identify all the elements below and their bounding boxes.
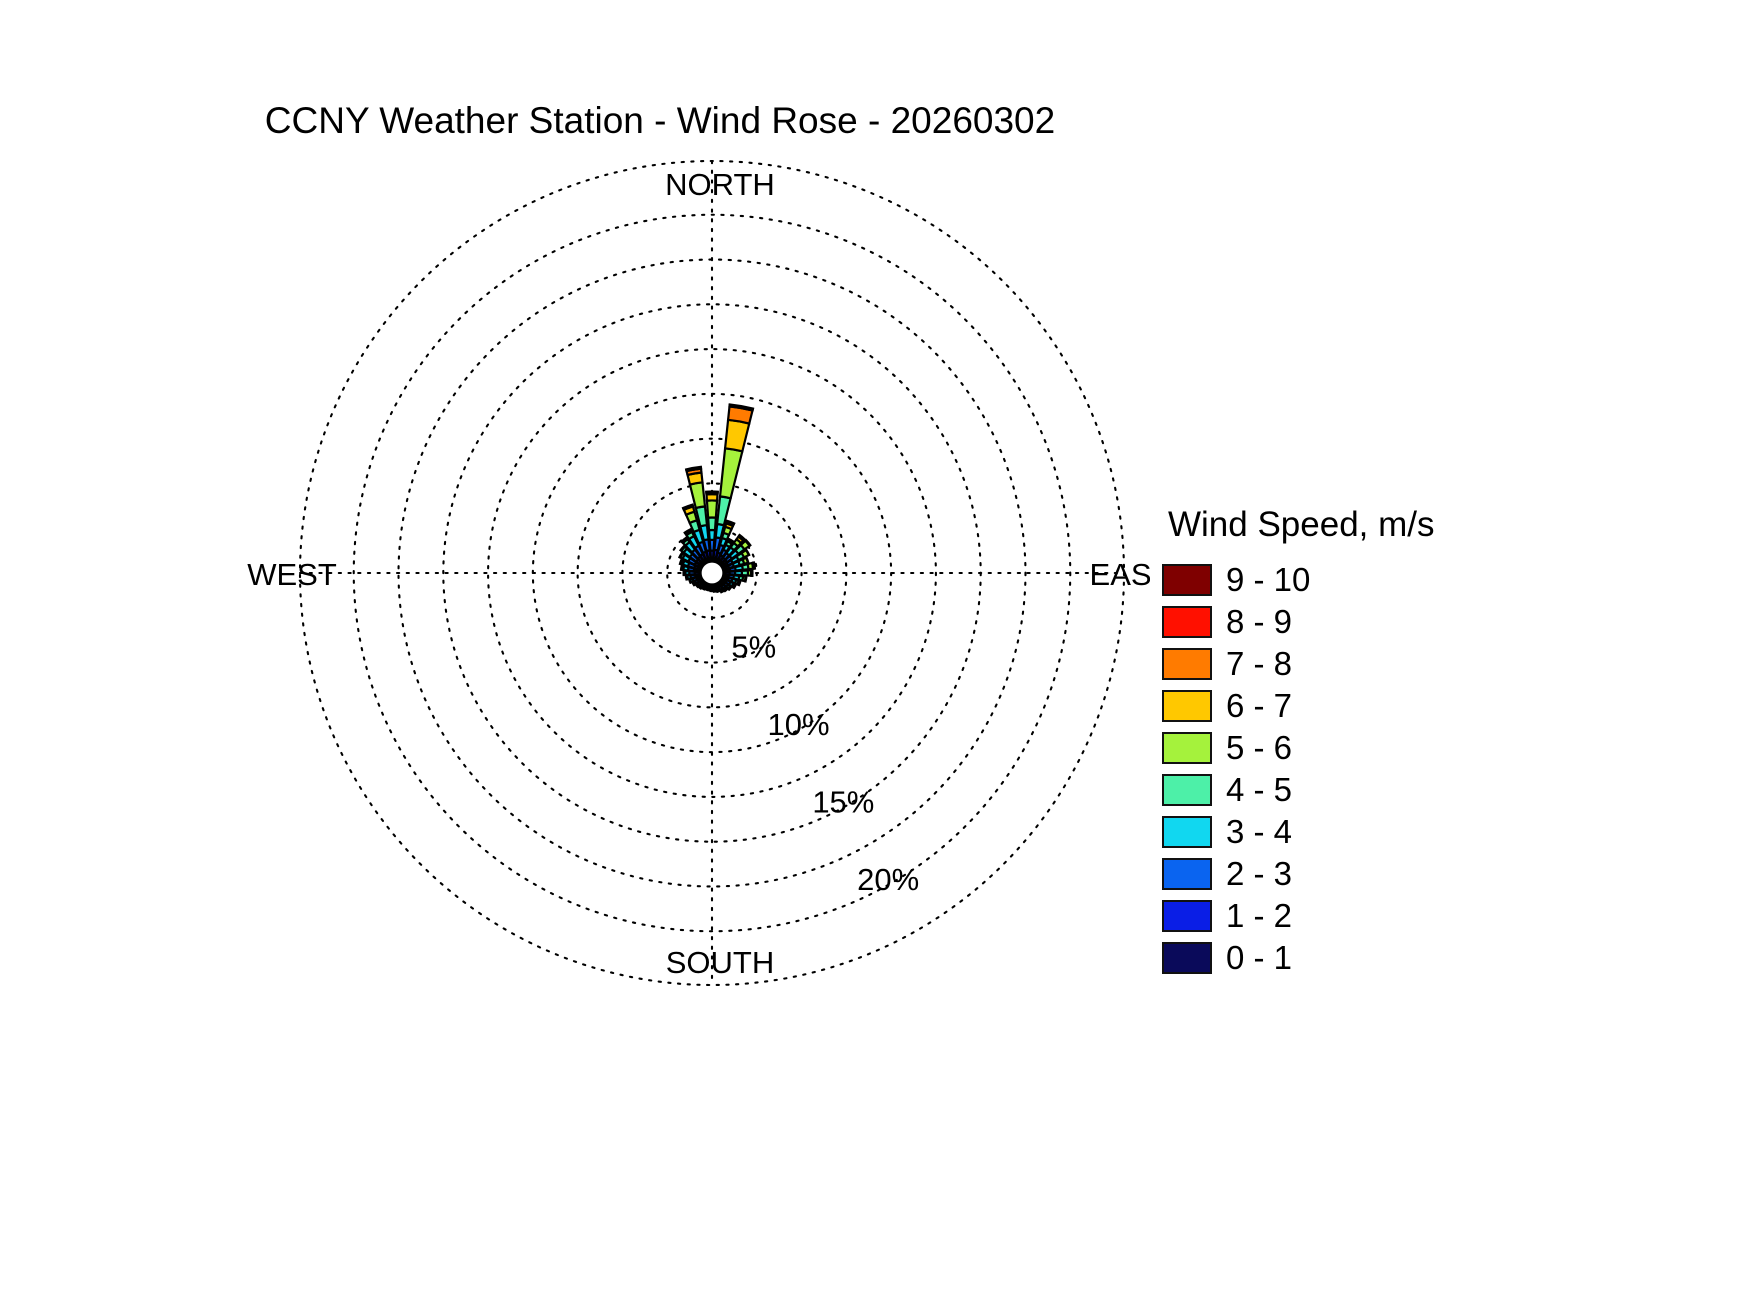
legend: Wind Speed, m/s 9 - 108 - 97 - 86 - 75 -…	[1160, 505, 1720, 979]
legend-color-swatch	[1162, 690, 1212, 722]
legend-title: Wind Speed, m/s	[1168, 505, 1720, 545]
legend-item-label: 5 - 6	[1226, 732, 1292, 764]
petal-segment	[721, 591, 724, 593]
legend-item-label: 0 - 1	[1226, 942, 1292, 974]
compass-label-north: NORTH	[665, 167, 775, 202]
legend-item[interactable]: 1 - 2	[1160, 895, 1720, 937]
petal-segment	[725, 589, 727, 591]
petal-segment	[725, 420, 749, 452]
legend-color-swatch	[1162, 942, 1212, 974]
page-title: CCNY Weather Station - Wind Rose - 20260…	[0, 100, 1320, 142]
petal-segment	[720, 448, 742, 498]
compass-label-south: SOUTH	[666, 945, 775, 980]
petal-segment	[745, 577, 746, 582]
legend-item[interactable]: 0 - 1	[1160, 937, 1720, 979]
petal-segment	[706, 491, 717, 492]
petal-segment	[708, 517, 716, 530]
petal-segment	[707, 500, 717, 517]
petal-segment	[739, 581, 741, 585]
legend-color-swatch	[1162, 648, 1212, 680]
legend-color-swatch	[1162, 732, 1212, 764]
legend-rows: 9 - 108 - 97 - 86 - 75 - 64 - 53 - 42 - …	[1160, 559, 1720, 979]
calm-center-hub	[702, 563, 722, 583]
legend-color-swatch	[1162, 774, 1212, 806]
ring-tick-label: 10%	[768, 707, 830, 742]
petal-segment	[754, 563, 755, 569]
legend-item-label: 3 - 4	[1226, 816, 1292, 848]
legend-item[interactable]: 9 - 10	[1160, 559, 1720, 601]
petal-segment	[680, 559, 682, 563]
petal-segment	[681, 565, 682, 569]
petal-segment	[709, 530, 715, 540]
legend-item-label: 8 - 9	[1226, 606, 1292, 638]
compass-label-west: WEST	[247, 557, 337, 592]
calm-hole	[702, 563, 722, 583]
legend-item-label: 6 - 7	[1226, 690, 1292, 722]
legend-item[interactable]: 7 - 8	[1160, 643, 1720, 685]
legend-item-label: 2 - 3	[1226, 858, 1292, 890]
petal-segment	[686, 576, 687, 580]
legend-color-swatch	[1162, 564, 1212, 596]
legend-item-label: 7 - 8	[1226, 648, 1292, 680]
polar-plot-container: NORTHEASTSOUTHWEST5%10%15%20%	[0, 150, 1150, 1010]
wind-rose-page: CCNY Weather Station - Wind Rose - 20260…	[0, 0, 1750, 1313]
legend-item-label: 4 - 5	[1226, 774, 1292, 806]
legend-color-swatch	[1162, 606, 1212, 638]
legend-item-label: 9 - 10	[1226, 564, 1310, 596]
wind-rose-svg: NORTHEASTSOUTHWEST5%10%15%20%	[0, 150, 1150, 1010]
legend-color-swatch	[1162, 858, 1212, 890]
legend-color-swatch	[1162, 900, 1212, 932]
petal-segment	[689, 579, 690, 582]
legend-item-label: 1 - 2	[1226, 900, 1292, 932]
wind-rose-petals	[679, 404, 754, 592]
legend-color-swatch	[1162, 816, 1212, 848]
ring-tick-label: 5%	[731, 629, 776, 664]
compass-label-east: EAST	[1090, 557, 1150, 592]
legend-item[interactable]: 3 - 4	[1160, 811, 1720, 853]
petal-segment	[693, 582, 695, 585]
legend-item[interactable]: 6 - 7	[1160, 685, 1720, 727]
ring-tick-label: 20%	[857, 862, 919, 897]
ring-tick-label: 15%	[812, 785, 874, 820]
legend-item[interactable]: 5 - 6	[1160, 727, 1720, 769]
legend-item[interactable]: 4 - 5	[1160, 769, 1720, 811]
legend-item[interactable]: 8 - 9	[1160, 601, 1720, 643]
legend-item[interactable]: 2 - 3	[1160, 853, 1720, 895]
